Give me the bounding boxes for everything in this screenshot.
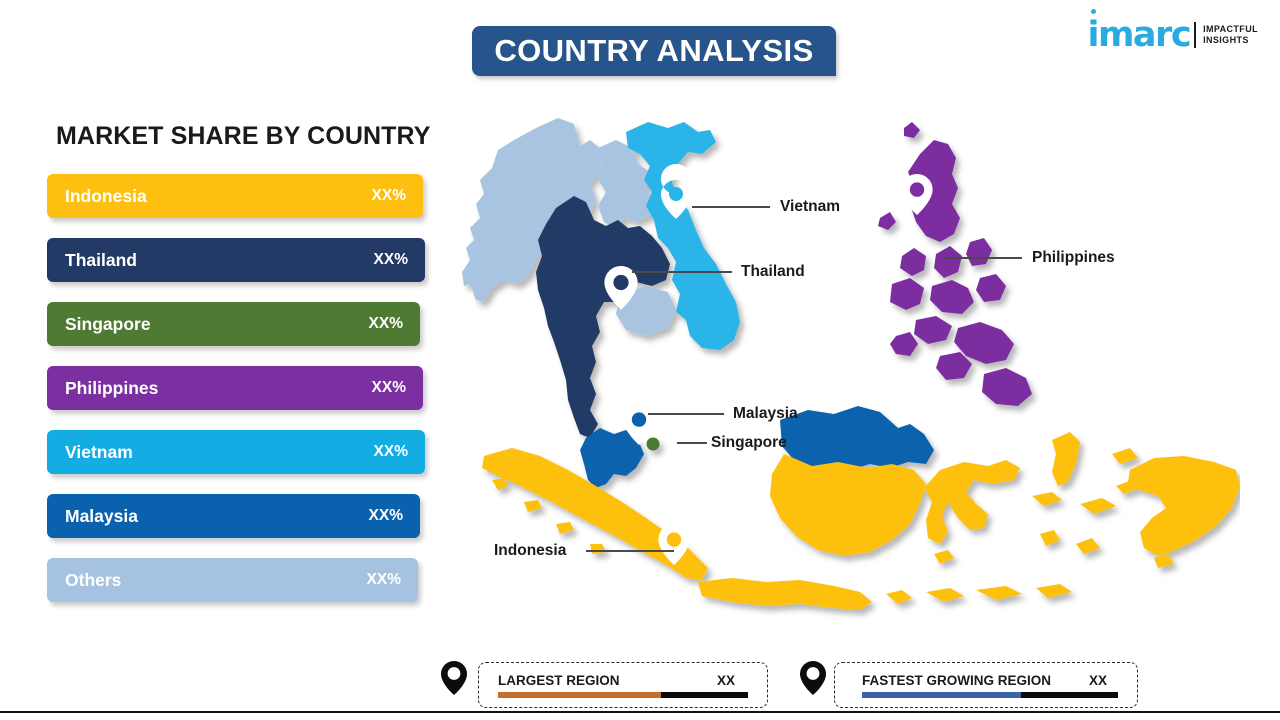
- bar-value: XX%: [374, 251, 408, 269]
- map-region-maluku: [1052, 432, 1080, 486]
- page-title: COUNTRY ANALYSIS: [494, 33, 813, 69]
- indonesia-leader-line: [586, 550, 674, 552]
- market-share-bar-others[interactable]: OthersXX%: [47, 558, 418, 602]
- bar-value: XX%: [372, 379, 406, 397]
- largest-region-track: [498, 692, 748, 698]
- logo-divider: [1194, 22, 1196, 48]
- logo-tagline: IMPACTFUL INSIGHTS: [1203, 24, 1258, 46]
- philippines-leader-line: [944, 257, 1022, 259]
- market-share-bar-singapore[interactable]: SingaporeXX%: [47, 302, 420, 346]
- footer-rule: [0, 711, 1280, 713]
- largest-region-label: LARGEST REGION: [498, 673, 620, 688]
- map-region-sulawesi: [924, 460, 1020, 544]
- logo-wordmark: imarc: [1087, 18, 1190, 53]
- vietnam-leader-line: [692, 206, 770, 208]
- fastest-region-label: FASTEST GROWING REGION: [862, 673, 1051, 688]
- page-title-banner: COUNTRY ANALYSIS: [472, 26, 836, 76]
- market-share-bar-thailand[interactable]: ThailandXX%: [47, 238, 425, 282]
- slide-canvas: COUNTRY ANALYSIS imarc IMPACTFUL INSIGHT…: [0, 0, 1280, 720]
- largest-region-fill: [498, 692, 661, 698]
- market-share-bar-list: IndonesiaXX%ThailandXX%SingaporeXX%Phili…: [47, 174, 437, 622]
- bar-value: XX%: [369, 315, 403, 333]
- map-region-malaysia-borneo: [780, 406, 934, 470]
- map-callout-malaysia: Malaysia: [733, 405, 798, 423]
- map-callout-philippines: Philippines: [1032, 249, 1115, 267]
- map-callout-singapore: Singapore: [711, 434, 787, 452]
- panel-title: MARKET SHARE BY COUNTRY: [56, 122, 431, 151]
- thailand-leader-line: [632, 271, 732, 273]
- logo-tagline-line2: INSIGHTS: [1203, 35, 1258, 46]
- logo-tagline-line1: IMPACTFUL: [1203, 24, 1258, 35]
- bar-value: XX%: [369, 507, 403, 525]
- market-share-bar-philippines[interactable]: PhilippinesXX%: [47, 366, 423, 410]
- bar-label: Indonesia: [65, 186, 147, 207]
- largest-region-value: XX: [717, 673, 735, 688]
- map-region-maluku-isles: [1032, 480, 1140, 554]
- market-share-bar-malaysia[interactable]: MalaysiaXX%: [47, 494, 420, 538]
- largest-region-pin-icon: [441, 661, 467, 695]
- map-callout-indonesia: Indonesia: [494, 542, 566, 560]
- bar-label: Vietnam: [65, 442, 133, 463]
- map-region-kalimantan: [770, 454, 926, 556]
- map-region-papua: [1128, 456, 1240, 556]
- map-region-nusa-tenggara: [886, 584, 1072, 604]
- bar-label: Others: [65, 570, 121, 591]
- map-region-singapore: [647, 438, 660, 451]
- bar-label: Philippines: [65, 378, 158, 399]
- logo-dot-icon: [1091, 9, 1096, 14]
- fastest-region-fill: [862, 692, 1021, 698]
- fastest-region-value: XX: [1089, 673, 1107, 688]
- map-region-philippines: [878, 122, 1032, 406]
- map-region-sulawesi-isles: [934, 550, 954, 564]
- bar-label: Singapore: [65, 314, 151, 335]
- map-callout-thailand: Thailand: [741, 263, 805, 281]
- map-region-java: [698, 578, 872, 610]
- market-share-bar-vietnam[interactable]: VietnamXX%: [47, 430, 425, 474]
- map-callout-vietnam: Vietnam: [780, 198, 840, 216]
- bar-value: XX%: [372, 187, 406, 205]
- fastest-region-pin-icon: [800, 661, 826, 695]
- malaysia-leader-line: [648, 413, 724, 415]
- bar-value: XX%: [367, 571, 401, 589]
- market-share-bar-indonesia[interactable]: IndonesiaXX%: [47, 174, 423, 218]
- fastest-region-track: [862, 692, 1118, 698]
- bar-label: Malaysia: [65, 506, 138, 527]
- singapore-leader-line: [677, 442, 707, 444]
- imarc-logo: imarc IMPACTFUL INSIGHTS: [1087, 16, 1258, 54]
- bar-value: XX%: [374, 443, 408, 461]
- bar-label: Thailand: [65, 250, 137, 271]
